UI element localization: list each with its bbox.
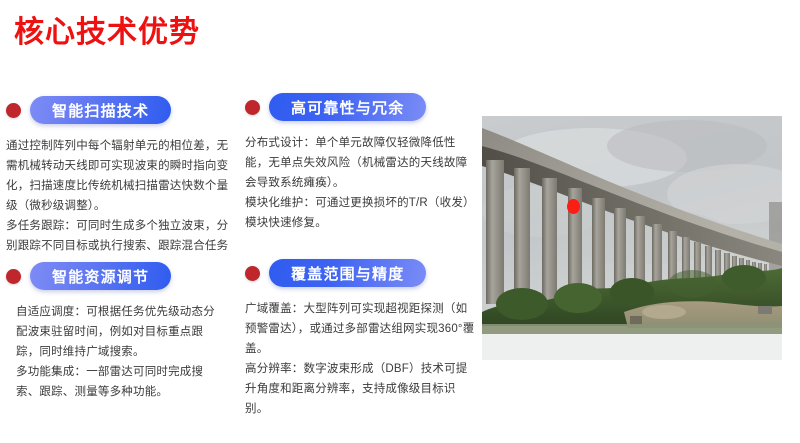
feature-body: 分布式设计：单个单元故障仅轻微降低性能，无单点失效风险（机械雷达的天线故障会导致…: [245, 133, 471, 233]
feature-block-intelligent-scanning: 智能扫描技术 通过控制阵列中每个辐射单元的相位差，无需机械转动天线即可实现波束的…: [6, 96, 242, 256]
feature-paragraph: 分布式设计：单个单元故障仅轻微降低性能，无单点失效风险（机械雷达的天线故障会导致…: [245, 133, 471, 193]
bullet-dot-icon: [245, 266, 260, 281]
bullet-dot-icon: [6, 103, 21, 118]
feature-block-coverage-accuracy: 覆盖范围与精度 广域覆盖：大型阵列可实现超视距探测（如预警雷达），或通过多部雷达…: [245, 259, 477, 419]
red-dot-marker-icon: [567, 199, 580, 214]
page-title: 核心技术优势: [14, 14, 200, 52]
feature-body: 广域覆盖：大型阵列可实现超视距探测（如预警雷达），或通过多部雷达组网实现360°…: [245, 299, 477, 419]
feature-pill-label[interactable]: 智能资源调节: [30, 262, 171, 290]
feature-body: 自适应调度：可根据任务优先级动态分配波束驻留时间，例如对目标重点跟踪，同时维持广…: [6, 302, 221, 402]
bullet-dot-icon: [6, 269, 21, 284]
feature-header: 智能扫描技术: [6, 96, 242, 124]
feature-paragraph: 多功能集成：一部雷达可同时完成搜索、跟踪、测量等多种功能。: [16, 362, 221, 402]
slide-root: 核心技术优势 智能扫描技术 通过控制阵列中每个辐射单元的相位差，无需机械转动天线…: [0, 0, 800, 443]
feature-paragraph: 高分辨率：数字波束形成（DBF）技术可提升角度和距离分辨率，支持成像级目标识别。: [245, 359, 477, 419]
feature-header: 智能资源调节: [6, 262, 242, 290]
feature-paragraph: 模块化维护：可通过更换损坏的T/R（收发）模块快速修复。: [245, 193, 471, 233]
bullet-dot-icon: [245, 100, 260, 115]
feature-body: 通过控制阵列中每个辐射单元的相位差，无需机械转动天线即可实现波束的瞬时指向变化，…: [6, 136, 234, 256]
feature-paragraph: 自适应调度：可根据任务优先级动态分配波束驻留时间，例如对目标重点跟踪，同时维持广…: [16, 302, 221, 362]
feature-header: 覆盖范围与精度: [245, 259, 477, 287]
feature-block-resource-scheduling: 智能资源调节 自适应调度：可根据任务优先级动态分配波束驻留时间，例如对目标重点跟…: [6, 262, 242, 402]
feature-header: 高可靠性与冗余: [245, 93, 477, 121]
feature-paragraph: 广域覆盖：大型阵列可实现超视距探测（如预警雷达），或通过多部雷达组网实现360°…: [245, 299, 477, 359]
feature-block-high-reliability: 高可靠性与冗余 分布式设计：单个单元故障仅轻微降低性能，无单点失效风险（机械雷达…: [245, 93, 477, 233]
photo-container: [482, 116, 782, 360]
feature-paragraph: 多任务跟踪：可同时生成多个独立波束，分别跟踪不同目标或执行搜索、跟踪混合任务: [6, 216, 234, 256]
feature-paragraph: 通过控制阵列中每个辐射单元的相位差，无需机械转动天线即可实现波束的瞬时指向变化，…: [6, 136, 234, 216]
elevated-highway-viaduct-photo: [482, 116, 782, 360]
feature-pill-label[interactable]: 智能扫描技术: [30, 96, 171, 124]
feature-pill-label[interactable]: 覆盖范围与精度: [269, 259, 426, 287]
feature-pill-label[interactable]: 高可靠性与冗余: [269, 93, 426, 121]
